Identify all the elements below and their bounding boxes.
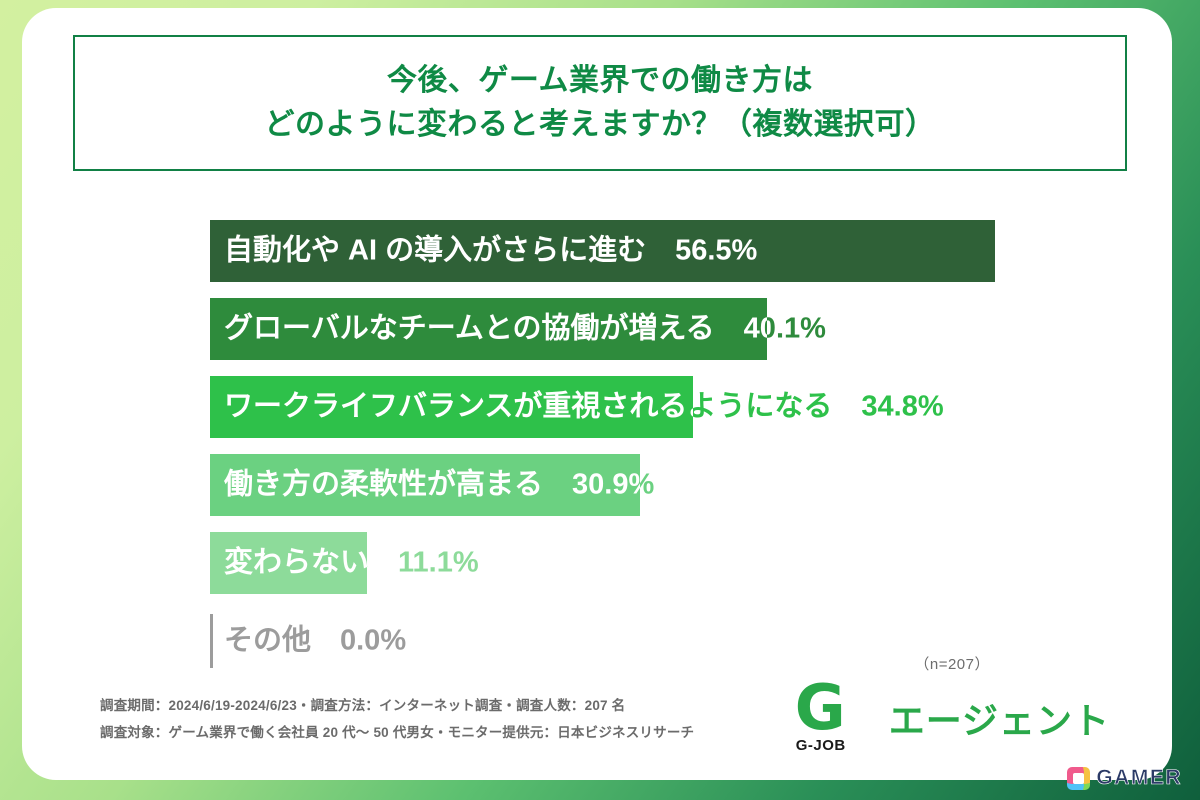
infographic-root: 今後、ゲーム業界での働き方は どのように変わると考えますか？（複数選択可） 自動… (0, 0, 1200, 800)
footer-line-1: 調査期間：2024/6/19-2024/6/23・調査方法：インターネット調査・… (100, 693, 820, 719)
g-job-agent-logo: G G-JOB エージェント (795, 682, 1110, 754)
bar-row: その他 0.0% その他 0.0% (210, 610, 1020, 672)
bar-label-inside: 自動化や AI の導入がさらに進む 56.5% (224, 237, 757, 266)
title-box: 今後、ゲーム業界での働き方は どのように変わると考えますか？（複数選択可） (73, 35, 1127, 171)
footer-line-2: 調査対象：ゲーム業界で働く会社員 20 代〜 50 代男女・モニター提供元：日本… (100, 720, 820, 746)
g-job-logo-icon: G G-JOB (795, 682, 873, 754)
bar-label-clip: ワークライフバランスが重視されるようになる 34.8% (210, 376, 693, 438)
bar-chart: 自動化や AI の導入がさらに進む 56.5% 自動化や AI の導入がさらに進… (210, 220, 1020, 690)
white-card: 今後、ゲーム業界での働き方は どのように変わると考えますか？（複数選択可） 自動… (22, 8, 1172, 780)
bar-label-inside: グローバルなチームとの協働が増える 40.1% (224, 315, 767, 344)
gamer-watermark: GAMER (1067, 766, 1182, 790)
bar-row: グローバルなチームとの協働が増える 40.1% グローバルなチームとの協働が増え… (210, 298, 1020, 360)
footer-note: 調査期間：2024/6/19-2024/6/23・調査方法：インターネット調査・… (100, 693, 820, 746)
gamer-logo-text: GAMER (1096, 766, 1182, 790)
bar-label-clip: 変わらない 11.1% (210, 532, 367, 594)
bar-zero-tick (210, 614, 213, 668)
bar-row: 自動化や AI の導入がさらに進む 56.5% 自動化や AI の導入がさらに進… (210, 220, 1020, 282)
bar-label-clip: 働き方の柔軟性が高まる 30.9% (210, 454, 640, 516)
sample-size-note: （n=207） (914, 653, 990, 674)
bar-label-inside: 変わらない 11.1% (224, 549, 367, 578)
title-line-2: どのように変わると考えますか？（複数選択可） (265, 103, 936, 147)
logo-g-letter: G (795, 682, 865, 734)
bar-label-outside: その他 0.0% (224, 627, 406, 656)
gamer-logo-icon (1067, 767, 1090, 790)
bar-label-inside: ワークライフバランスが重視されるようになる 34.8% (224, 393, 693, 422)
logo-gjob-caption: G-JOB (796, 737, 846, 754)
bar-label-clip: 自動化や AI の導入がさらに進む 56.5% (210, 220, 995, 282)
title-line-1: 今後、ゲーム業界での働き方は (387, 59, 813, 103)
logo-agent-text: エージェント (889, 692, 1110, 744)
bar-label-inside: 働き方の柔軟性が高まる 30.9% (224, 471, 640, 500)
bar-row: 変わらない 11.1% 変わらない 11.1% (210, 532, 1020, 594)
bar-row: ワークライフバランスが重視されるようになる 34.8% ワークライフバランスが重… (210, 376, 1020, 438)
bar-row: 働き方の柔軟性が高まる 30.9% 働き方の柔軟性が高まる 30.9% (210, 454, 1020, 516)
bar-label-clip: グローバルなチームとの協働が増える 40.1% (210, 298, 767, 360)
